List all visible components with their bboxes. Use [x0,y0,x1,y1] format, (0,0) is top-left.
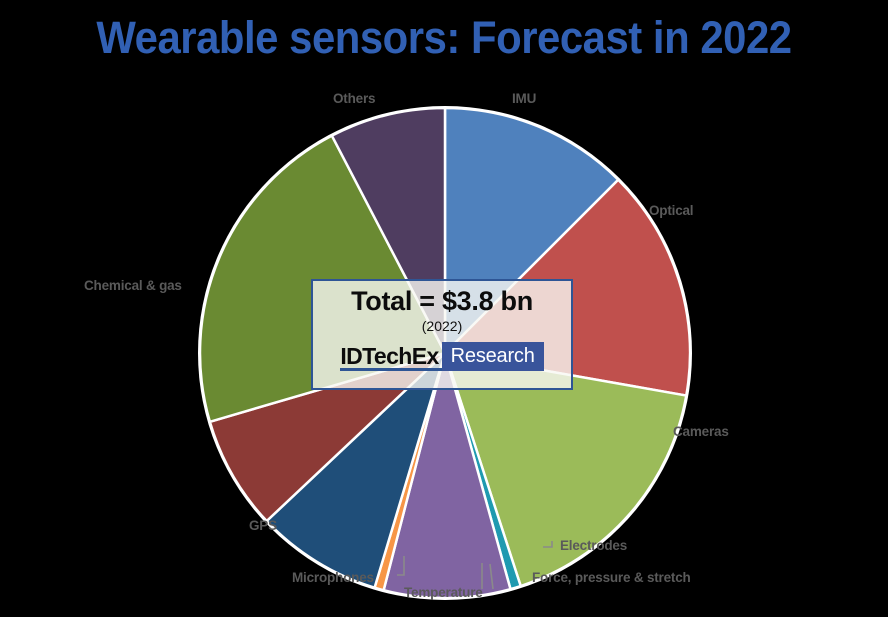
pie-label-chemical-gas: Chemical & gas [84,278,182,293]
pie-label-optical: Optical [649,203,693,218]
pie-label-cameras: Cameras [673,424,729,439]
pie-label-others: Others [333,91,375,106]
logo-wordmark: IDTechEx [340,342,441,371]
pie-label-gps: GPS [249,518,277,533]
idtechex-logo: IDTechEx Research [340,342,543,371]
pie-label-microphones: Microphones [292,570,374,585]
pie-label-imu: IMU [512,91,536,106]
center-callout-box: Total = $3.8 bn (2022) IDTechEx Research [311,279,573,390]
total-year-label: (2022) [422,319,462,333]
total-value-label: Total = $3.8 bn [351,288,533,315]
pie-label-electrodes: Electrodes [560,538,627,553]
pie-label-temperature: Temperature [404,585,483,600]
pie-label-force: Force, pressure & stretch [532,570,691,585]
logo-research-badge: Research [442,342,544,371]
chart-canvas: Wearable sensors: Forecast in 2022 Other… [0,0,888,617]
